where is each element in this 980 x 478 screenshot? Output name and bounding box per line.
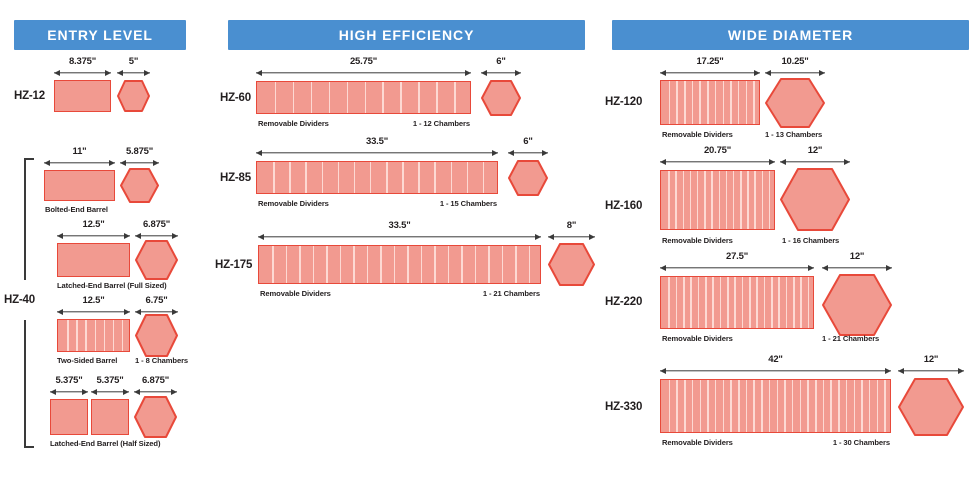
chamber-divider	[690, 171, 692, 229]
caption-hz-160-dividers: Removable Dividers	[662, 236, 733, 245]
arrowhead-left-icon	[548, 234, 554, 240]
hexagon-bolted-end	[120, 168, 159, 203]
dimension-line	[54, 72, 111, 73]
hexagon-latched-full	[135, 240, 178, 280]
caption-hz-330-dividers: Removable Dividers	[662, 438, 733, 447]
chamber-divider	[113, 320, 115, 351]
dimension-line	[256, 152, 498, 153]
model-label-hz-160: HZ-160	[605, 200, 642, 212]
dimension-line	[780, 161, 850, 162]
arrowhead-left-icon	[54, 70, 60, 76]
chamber-divider	[370, 162, 372, 193]
chamber-divider	[454, 82, 456, 113]
caption-latched-half: Latched-End Barrel (Half Sized)	[50, 439, 160, 448]
chamber-divider	[329, 82, 331, 113]
chamber-divider	[769, 171, 771, 229]
barrel-hz-12	[54, 80, 111, 112]
arrowhead-right-icon	[124, 233, 130, 239]
hexagon-two-sided	[135, 314, 178, 357]
arrowhead-right-icon	[172, 233, 178, 239]
chamber-divider	[740, 171, 742, 229]
arrowhead-left-icon	[57, 309, 63, 315]
barrel-latched-half-a	[50, 399, 88, 435]
hexagon-hz-160	[780, 168, 850, 231]
chamber-divider	[515, 246, 517, 283]
arrowhead-left-icon	[765, 70, 771, 76]
chamber-divider	[699, 81, 701, 124]
chamber-divider	[299, 246, 301, 283]
dimension-arrow-hz-60-length: 25.75"	[256, 68, 471, 78]
chamber-divider	[778, 277, 780, 328]
dimension-arrow-hz-85-length: 33.5"	[256, 148, 498, 158]
arrowhead-left-icon	[780, 159, 786, 165]
chamber-divider	[705, 277, 707, 328]
dimension-label: 25.75"	[350, 56, 377, 67]
dimension-arrow-bolted-end-width: 11"	[44, 158, 115, 168]
barrel-hz-60	[256, 81, 471, 114]
barrel-hz-175	[258, 245, 541, 284]
model-label-hz-40: HZ-40	[4, 294, 35, 306]
dimension-label: 6.875"	[142, 375, 169, 386]
arrowhead-right-icon	[754, 70, 760, 76]
dimension-line	[548, 236, 595, 237]
dimension-label: 12.5"	[83, 295, 105, 306]
chamber-divider	[749, 277, 751, 328]
dimension-line	[256, 72, 471, 73]
chamber-divider	[436, 82, 438, 113]
chamber-divider	[340, 246, 342, 283]
arrowhead-left-icon	[50, 389, 56, 395]
chamber-divider	[762, 171, 764, 229]
chamber-divider	[448, 246, 450, 283]
arrowhead-right-icon	[542, 150, 548, 156]
model-label-hz-220: HZ-220	[605, 296, 642, 308]
caption-hz-60-dividers: Removable Dividers	[258, 119, 329, 128]
chamber-divider	[707, 380, 709, 432]
caption-hz-60-chambers: 1 - 12 Chambers	[365, 119, 470, 128]
caption-latched-full: Latched-End Barrel (Full Sized)	[57, 281, 167, 290]
hexagon-hz-120	[765, 78, 825, 128]
arrowhead-right-icon	[105, 70, 111, 76]
dimension-label: 12.5"	[83, 219, 105, 230]
chamber-divider	[326, 246, 328, 283]
hexagon-hz-220	[822, 274, 892, 336]
chamber-divider	[683, 277, 685, 328]
chamber-divider	[475, 246, 477, 283]
caption-hz-330-chambers: 1 - 30 Chambers	[786, 438, 890, 447]
arrowhead-right-icon	[465, 70, 471, 76]
chamber-divider	[715, 81, 717, 124]
dimension-label: 11"	[73, 146, 87, 157]
chamber-divider	[777, 380, 779, 432]
caption-hz-220-dividers: Removable Dividers	[662, 334, 733, 343]
chamber-divider	[382, 82, 384, 113]
arrowhead-left-icon	[660, 265, 666, 271]
dimension-arrow-latched-full-width: 12.5"	[57, 231, 130, 241]
chamber-divider	[95, 320, 97, 351]
chamber-divider	[365, 82, 367, 113]
chamber-divider	[738, 81, 740, 124]
dimension-line	[57, 235, 130, 236]
chamber-divider	[800, 277, 802, 328]
dimension-line	[660, 161, 775, 162]
arrowhead-right-icon	[769, 159, 775, 165]
chamber-divider	[305, 162, 307, 193]
dimension-arrow-bolted-end-diameter: 5.875"	[120, 158, 159, 168]
caption-hz-120-dividers: Removable Dividers	[662, 130, 733, 139]
chamber-divider	[761, 380, 763, 432]
arrowhead-right-icon	[589, 234, 595, 240]
chamber-divider	[76, 320, 78, 351]
caption-hz-85-chambers: 1 - 15 Chambers	[392, 199, 497, 208]
bracket-bottom-tick	[24, 446, 34, 448]
chamber-divider	[67, 320, 69, 351]
arrowhead-left-icon	[120, 160, 126, 166]
barrel-latched-half-b	[91, 399, 129, 435]
hexagon-hz-330	[898, 378, 964, 436]
dimension-arrow-hz-160-diameter: 12"	[780, 157, 850, 167]
hexagon-hz-60	[481, 80, 521, 116]
dimension-label: 5.375"	[96, 375, 123, 386]
arrowhead-right-icon	[153, 160, 159, 166]
dimension-arrow-hz-175-diameter: 8"	[548, 232, 595, 242]
chamber-divider	[719, 171, 721, 229]
chamber-divider	[764, 277, 766, 328]
chamber-divider	[846, 380, 848, 432]
dimension-line	[258, 236, 541, 237]
hexagon-hz-12	[117, 80, 150, 112]
chamber-divider	[400, 82, 402, 113]
model-label-hz-85: HZ-85	[220, 172, 251, 184]
arrowhead-left-icon	[117, 70, 123, 76]
caption-hz-85-dividers: Removable Dividers	[258, 199, 329, 208]
chamber-divider	[367, 246, 369, 283]
arrowhead-left-icon	[898, 368, 904, 374]
model-label-hz-120: HZ-120	[605, 96, 642, 108]
chamber-divider	[483, 162, 485, 193]
chamber-divider	[418, 162, 420, 193]
hexagon-hz-175	[548, 243, 595, 286]
caption-bolted-end: Bolted-End Barrel	[45, 205, 108, 214]
chamber-divider	[421, 246, 423, 283]
barrel-hz-160	[660, 170, 775, 230]
dimension-arrow-hz-120-length: 17.25"	[660, 68, 760, 78]
hexagon-hz-85	[508, 160, 548, 196]
chamber-divider	[738, 380, 740, 432]
chamber-divider	[792, 380, 794, 432]
arrowhead-left-icon	[57, 233, 63, 239]
chamber-divider	[338, 162, 340, 193]
chamber-divider	[418, 82, 420, 113]
chamber-divider	[289, 162, 291, 193]
dimension-arrow-two-sided-width: 12.5"	[57, 307, 130, 317]
dimension-line	[822, 267, 892, 268]
arrowhead-left-icon	[822, 265, 828, 271]
arrowhead-right-icon	[82, 389, 88, 395]
dimension-arrow-hz-220-length: 27.5"	[660, 263, 814, 273]
chamber-divider	[707, 81, 709, 124]
dimension-label: 42"	[768, 354, 782, 365]
chamber-divider	[756, 277, 758, 328]
dimension-arrow-latched-half-width-b: 5.375"	[91, 387, 129, 397]
chamber-divider	[488, 246, 490, 283]
dimension-arrow-hz-330-diameter: 12"	[898, 366, 964, 376]
caption-two-sided-chambers: 1 - 8 Chambers	[135, 356, 188, 365]
bracket-line-lower	[24, 320, 26, 448]
chamber-divider	[322, 162, 324, 193]
chamber-divider	[461, 246, 463, 283]
dimension-line	[57, 311, 130, 312]
chamber-divider	[723, 81, 725, 124]
caption-hz-175-dividers: Removable Dividers	[260, 289, 331, 298]
chamber-divider	[380, 246, 382, 283]
chamber-divider	[529, 246, 531, 283]
chamber-divider	[854, 380, 856, 432]
chamber-divider	[730, 81, 732, 124]
caption-hz-160-chambers: 1 - 16 Chambers	[782, 236, 839, 245]
chamber-divider	[407, 246, 409, 283]
column-header-high-efficiency: HIGH EFFICIENCY	[228, 20, 585, 50]
model-label-hz-12: HZ-12	[14, 90, 45, 102]
chamber-divider	[753, 81, 755, 124]
arrowhead-right-icon	[124, 309, 130, 315]
arrowhead-right-icon	[819, 70, 825, 76]
chamber-divider	[669, 81, 671, 124]
arrowhead-right-icon	[123, 389, 129, 395]
arrowhead-left-icon	[660, 368, 666, 374]
chamber-divider	[830, 380, 832, 432]
chamber-divider	[272, 246, 274, 283]
dimension-label: 8.375"	[69, 56, 96, 67]
chamber-divider	[784, 380, 786, 432]
chamber-divider	[720, 277, 722, 328]
chamber-divider	[726, 171, 728, 229]
chamber-divider	[733, 171, 735, 229]
dimension-label: 33.5"	[366, 136, 388, 147]
arrowhead-right-icon	[515, 70, 521, 76]
arrowhead-left-icon	[44, 160, 50, 166]
arrowhead-left-icon	[660, 159, 666, 165]
chamber-divider	[273, 162, 275, 193]
chamber-divider	[807, 380, 809, 432]
dimension-line	[660, 267, 814, 268]
chamber-divider	[669, 380, 671, 432]
chamber-divider	[700, 380, 702, 432]
dimension-line	[898, 370, 964, 371]
arrowhead-right-icon	[885, 368, 891, 374]
dimension-label: 12"	[808, 145, 822, 156]
dimension-line	[660, 72, 760, 73]
hexagon-latched-half	[134, 396, 177, 438]
arrowhead-right-icon	[144, 70, 150, 76]
dimension-arrow-hz-220-diameter: 12"	[822, 263, 892, 273]
chamber-divider	[753, 380, 755, 432]
arrowhead-left-icon	[258, 234, 264, 240]
chamber-divider	[800, 380, 802, 432]
chamber-divider	[676, 277, 678, 328]
dimension-arrow-hz-175-length: 33.5"	[258, 232, 541, 242]
chamber-divider	[311, 82, 313, 113]
dimension-arrow-hz-330-length: 42"	[660, 366, 891, 376]
barrel-hz-330	[660, 379, 891, 433]
dimension-arrow-hz-160-length: 20.75"	[660, 157, 775, 167]
chamber-divider	[675, 171, 677, 229]
chamber-divider	[723, 380, 725, 432]
chamber-divider	[353, 246, 355, 283]
barrel-hz-120	[660, 80, 760, 125]
caption-hz-175-chambers: 1 - 21 Chambers	[435, 289, 540, 298]
chamber-divider	[884, 380, 886, 432]
chamber-divider	[769, 380, 771, 432]
chamber-divider	[712, 277, 714, 328]
chamber-divider	[683, 171, 685, 229]
arrowhead-left-icon	[134, 389, 140, 395]
column-header-wide-diameter: WIDE DIAMETER	[612, 20, 969, 50]
chamber-divider	[754, 171, 756, 229]
dimension-line	[44, 162, 115, 163]
chamber-divider	[451, 162, 453, 193]
model-label-hz-175: HZ-175	[215, 259, 252, 271]
chamber-divider	[313, 246, 315, 283]
chamber-divider	[746, 81, 748, 124]
arrowhead-right-icon	[109, 160, 115, 166]
arrowhead-left-icon	[481, 70, 487, 76]
chamber-divider	[692, 81, 694, 124]
arrowhead-right-icon	[958, 368, 964, 374]
dimension-arrow-hz-60-diameter: 6"	[481, 68, 521, 78]
dimension-label: 5"	[129, 56, 138, 67]
chamber-divider	[747, 171, 749, 229]
chamber-divider	[808, 277, 810, 328]
arrowhead-left-icon	[256, 70, 262, 76]
barrel-bolted-end	[44, 170, 115, 201]
dimension-label: 27.5"	[726, 251, 748, 262]
chamber-divider	[838, 380, 840, 432]
chamber-divider	[668, 277, 670, 328]
dimension-arrow-hz-85-diameter: 6"	[508, 148, 548, 158]
arrowhead-right-icon	[886, 265, 892, 271]
arrowhead-left-icon	[135, 233, 141, 239]
chamber-divider	[676, 380, 678, 432]
chamber-divider	[692, 380, 694, 432]
chamber-divider	[286, 246, 288, 283]
chamber-divider	[715, 380, 717, 432]
chamber-divider	[85, 320, 87, 351]
chamber-divider	[354, 162, 356, 193]
barrel-hz-85	[256, 161, 498, 194]
chamber-divider	[730, 380, 732, 432]
dimension-line	[660, 370, 891, 371]
chamber-divider	[742, 277, 744, 328]
chamber-divider	[293, 82, 295, 113]
arrowhead-right-icon	[535, 234, 541, 240]
chamber-divider	[793, 277, 795, 328]
barrel-hz-220	[660, 276, 814, 329]
dimension-label: 6.875"	[143, 219, 170, 230]
bracket-line-upper	[24, 158, 26, 280]
chamber-divider	[402, 162, 404, 193]
chamber-divider	[668, 171, 670, 229]
chamber-divider	[698, 277, 700, 328]
arrowhead-left-icon	[256, 150, 262, 156]
chamber-divider	[684, 81, 686, 124]
dimension-label: 5.875"	[126, 146, 153, 157]
dimension-label: 5.375"	[55, 375, 82, 386]
caption-hz-220-chambers: 1 - 21 Chambers	[822, 334, 879, 343]
chamber-divider	[275, 82, 277, 113]
chamber-divider	[877, 380, 879, 432]
model-label-hz-330: HZ-330	[605, 401, 642, 413]
arrowhead-right-icon	[808, 265, 814, 271]
chamber-divider	[786, 277, 788, 328]
dimension-label: 6"	[496, 56, 505, 67]
dimension-arrow-hz-120-diameter: 10.25"	[765, 68, 825, 78]
chamber-divider	[704, 171, 706, 229]
arrowhead-left-icon	[660, 70, 666, 76]
column-header-entry-level: ENTRY LEVEL	[14, 20, 186, 50]
chamber-divider	[684, 380, 686, 432]
arrowhead-right-icon	[171, 389, 177, 395]
chamber-divider	[697, 171, 699, 229]
barrel-two-sided	[57, 319, 130, 352]
dimension-label: 6.75"	[146, 295, 168, 306]
barrel-latched-full	[57, 243, 130, 277]
arrowhead-right-icon	[492, 150, 498, 156]
dimension-label: 6"	[523, 136, 532, 147]
chamber-divider	[815, 380, 817, 432]
chamber-divider	[869, 380, 871, 432]
chamber-divider	[771, 277, 773, 328]
model-label-hz-60: HZ-60	[220, 92, 251, 104]
dimension-label: 12"	[924, 354, 938, 365]
chamber-divider	[386, 162, 388, 193]
dimension-label: 33.5"	[389, 220, 411, 231]
chamber-divider	[502, 246, 504, 283]
chamber-divider	[394, 246, 396, 283]
dimension-label: 20.75"	[704, 145, 731, 156]
chamber-divider	[861, 380, 863, 432]
caption-two-sided: Two-Sided Barrel	[57, 356, 117, 365]
chamber-divider	[467, 162, 469, 193]
caption-hz-120-chambers: 1 - 13 Chambers	[765, 130, 822, 139]
chamber-divider	[711, 171, 713, 229]
chamber-divider	[734, 277, 736, 328]
dimension-label: 12"	[850, 251, 864, 262]
chamber-divider	[676, 81, 678, 124]
chamber-divider	[823, 380, 825, 432]
chamber-divider	[434, 246, 436, 283]
dimension-line	[765, 72, 825, 73]
dimension-arrow-latched-half-width-a: 5.375"	[50, 387, 88, 397]
dimension-label: 17.25"	[696, 56, 723, 67]
chamber-divider	[104, 320, 106, 351]
chamber-divider	[727, 277, 729, 328]
dimension-arrow-hz-12-width: 8.375"	[54, 68, 111, 78]
dimension-label: 8"	[567, 220, 576, 231]
arrowhead-left-icon	[91, 389, 97, 395]
arrowhead-right-icon	[844, 159, 850, 165]
chamber-divider	[690, 277, 692, 328]
arrowhead-left-icon	[508, 150, 514, 156]
dimension-arrow-hz-12-diameter: 5"	[117, 68, 150, 78]
chamber-divider	[746, 380, 748, 432]
chamber-divider	[347, 82, 349, 113]
chamber-divider	[434, 162, 436, 193]
dimension-label: 10.25"	[781, 56, 808, 67]
chamber-divider	[122, 320, 124, 351]
